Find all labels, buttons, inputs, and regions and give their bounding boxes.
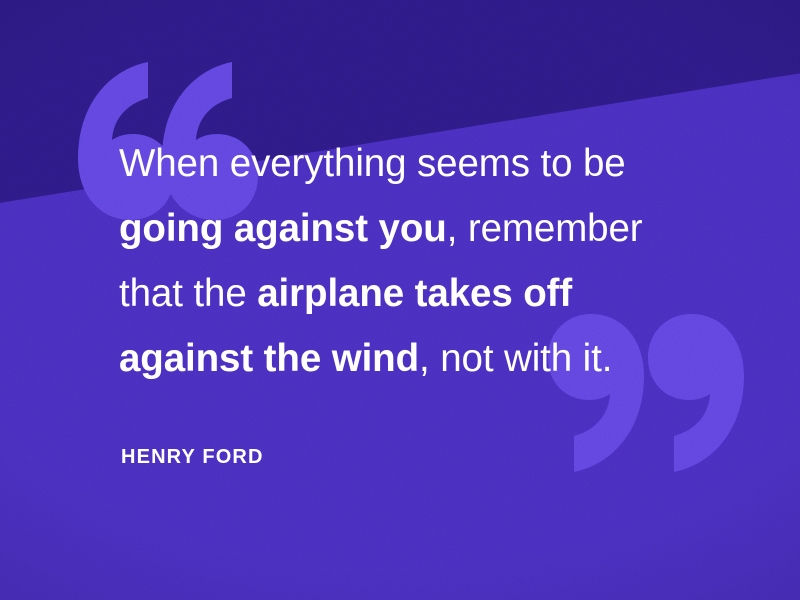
quote-line-2-bold: going against you: [119, 207, 447, 250]
quote-line-4-plain-after: , not with it.: [419, 337, 612, 380]
quote-line-2-plain-after: , remember: [447, 207, 643, 250]
quote-line-3: that the airplane takes off: [119, 261, 719, 326]
quote-line-2: going against you, remember: [119, 196, 719, 261]
quote-text-block: When everything seems to be going agains…: [119, 131, 719, 391]
quote-line-4-bold: against the wind: [119, 337, 419, 380]
quote-attribution: HENRY FORD: [121, 446, 264, 469]
quote-line-1-plain-before: When everything seems to be: [119, 142, 626, 185]
quote-line-4: against the wind, not with it.: [119, 326, 719, 391]
quote-line-1: When everything seems to be: [119, 131, 719, 196]
quote-line-3-plain-before: that the: [119, 272, 257, 315]
quote-poster: When everything seems to be going agains…: [0, 0, 800, 600]
quote-line-3-bold: airplane takes off: [257, 272, 572, 315]
